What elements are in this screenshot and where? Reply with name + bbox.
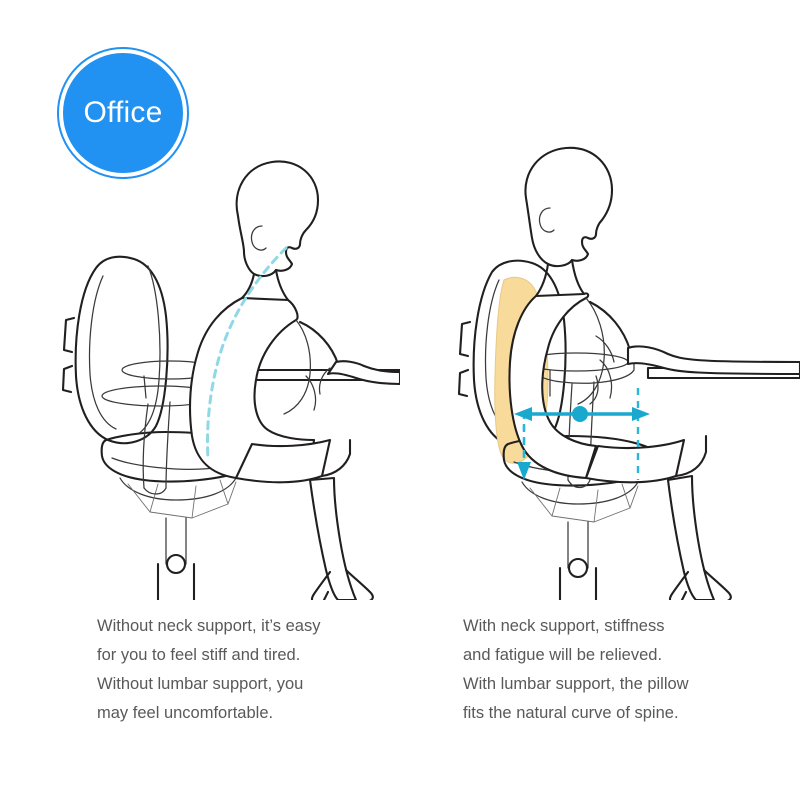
arrow-head-right xyxy=(632,407,650,421)
caption-line: With lumbar support, the pillow xyxy=(463,670,793,699)
chair-base-left xyxy=(49,518,304,600)
badge-label: Office xyxy=(83,98,162,128)
caption-without-support: Without neck support, it’s easy for you … xyxy=(97,612,427,728)
caption-line: fits the natural curve of spine. xyxy=(463,699,793,728)
caption-line: With neck support, stiffness xyxy=(463,612,793,641)
caption-line: and fatigue will be relieved. xyxy=(463,641,793,670)
person-upright-right xyxy=(510,148,800,600)
caption-line: Without lumbar support, you xyxy=(97,670,427,699)
chair-base-right xyxy=(451,522,706,600)
caption-line: for you to feel stiff and tired. xyxy=(97,641,427,670)
caption-line: may feel uncomfortable. xyxy=(97,699,427,728)
chair-backrest-left xyxy=(63,257,168,444)
illustration-page: Office xyxy=(0,0,800,800)
caption-with-support: With neck support, stiffness and fatigue… xyxy=(463,612,793,728)
figure-without-support xyxy=(0,140,400,600)
panel-without-support xyxy=(0,140,400,600)
measure-center-dot xyxy=(572,406,588,422)
panel-with-support xyxy=(400,140,800,600)
figure-with-support xyxy=(400,140,800,600)
caption-line: Without neck support, it’s easy xyxy=(97,612,427,641)
